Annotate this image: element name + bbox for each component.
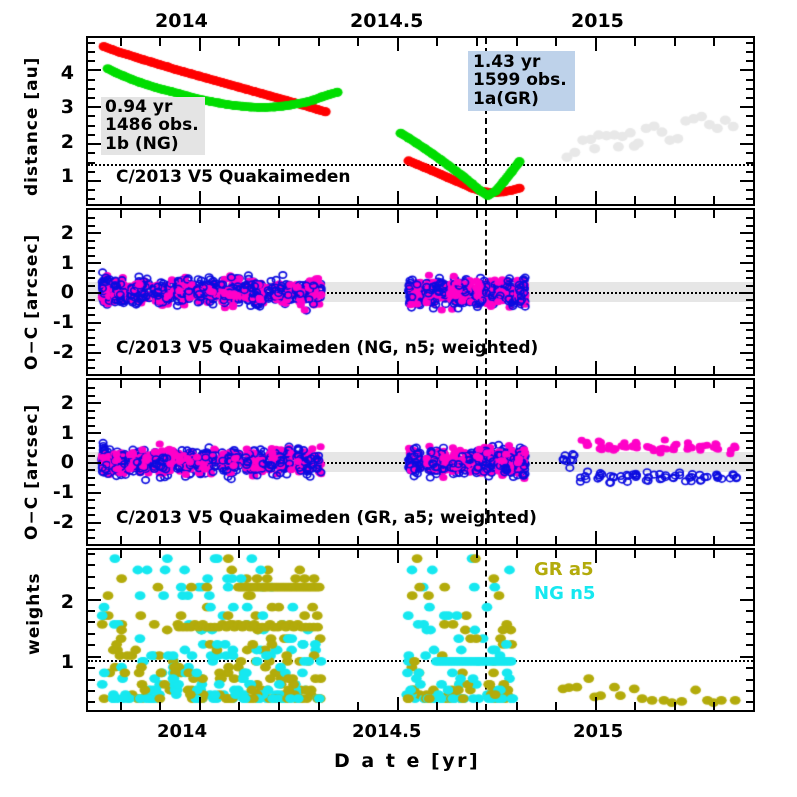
y-tick	[740, 180, 753, 182]
y-tick	[88, 106, 101, 108]
y-tick	[746, 217, 753, 219]
x-tick	[238, 210, 240, 218]
x-tick	[476, 366, 478, 374]
y-tick	[88, 115, 95, 117]
y-tick	[88, 125, 95, 127]
x-tick	[674, 550, 676, 558]
y-tick	[746, 359, 753, 361]
y-tick	[88, 492, 101, 494]
x-tick	[713, 196, 715, 204]
y-tick	[746, 198, 753, 200]
y-tick	[746, 171, 753, 173]
y-tick	[746, 587, 753, 589]
x-tick	[159, 550, 161, 558]
y-tick	[88, 198, 95, 200]
x-tick	[397, 697, 399, 710]
y-tick-label-p2-2: 2	[48, 222, 74, 244]
y-tick	[740, 432, 753, 434]
x-tick	[278, 550, 280, 558]
y-tick	[746, 484, 753, 486]
y-tick	[88, 667, 95, 669]
x-tick	[516, 366, 518, 374]
x-tick	[318, 38, 320, 46]
y-tick	[88, 232, 101, 234]
y-tick	[88, 462, 101, 464]
x-tick	[278, 536, 280, 544]
y-tick	[740, 656, 753, 658]
y-tick	[746, 189, 753, 191]
x-tick	[278, 366, 280, 374]
y-tick	[88, 344, 95, 346]
y-axis-title-oc-gr: O−C [arcsec]	[22, 404, 42, 540]
y-tick	[746, 455, 753, 457]
x-tick	[159, 702, 161, 710]
y-tick	[88, 285, 95, 287]
y-tick	[88, 337, 95, 339]
y-tick	[746, 610, 753, 612]
y-tick	[746, 690, 753, 692]
x-tick	[120, 702, 122, 710]
x-tick	[357, 380, 359, 388]
x-tick	[238, 196, 240, 204]
y-tick	[740, 106, 753, 108]
x-tick	[516, 702, 518, 710]
x-tick	[555, 366, 557, 374]
y-tick	[740, 292, 753, 294]
y-tick	[88, 152, 95, 154]
y-tick-label-p4-1: 1	[52, 651, 74, 673]
x-tick	[159, 380, 161, 388]
y-tick	[88, 402, 101, 404]
y-tick-label-p1-2: 2	[52, 131, 74, 153]
y-tick	[746, 79, 753, 81]
y-tick	[740, 322, 753, 324]
x-tick	[357, 196, 359, 204]
y-tick	[88, 679, 95, 681]
x-tick	[476, 38, 478, 46]
legend-gr-a5: GR a5	[534, 559, 594, 580]
y-tick-label-p1-1: 1	[52, 165, 74, 187]
y-tick	[740, 522, 753, 524]
x-tick	[159, 38, 161, 46]
y-tick	[88, 171, 95, 173]
x-tick	[278, 38, 280, 46]
y-tick-label-p2-m1: -1	[42, 311, 74, 333]
x-tick	[674, 38, 676, 46]
x-tick-label-bottom-2015: 2015	[573, 721, 623, 742]
y-tick	[88, 42, 95, 44]
x-tick	[674, 366, 676, 374]
y-tick	[740, 69, 753, 71]
y-tick	[88, 262, 101, 264]
y-tick	[740, 232, 753, 234]
y-tick	[746, 367, 753, 369]
y-tick	[746, 387, 753, 389]
x-tick	[595, 191, 597, 204]
x-tick	[397, 210, 399, 223]
x-tick	[634, 366, 636, 374]
y-tick	[746, 553, 753, 555]
y-tick	[88, 529, 95, 531]
x-axis-title: D a t e [yr]	[334, 750, 480, 772]
x-tick	[516, 210, 518, 218]
caption-distance: C/2013 V5 Quakaimeden	[116, 167, 351, 187]
y-tick	[746, 621, 753, 623]
x-tick	[397, 380, 399, 393]
y-tick-label-p2-0: 0	[48, 281, 74, 303]
x-tick	[713, 38, 715, 46]
x-tick	[555, 702, 557, 710]
y-tick	[88, 432, 101, 434]
x-tick	[555, 196, 557, 204]
x-tick	[634, 210, 636, 218]
y-tick	[88, 455, 95, 457]
y-tick	[88, 440, 95, 442]
x-tick	[238, 380, 240, 388]
y-tick	[746, 270, 753, 272]
y-tick	[746, 285, 753, 287]
y-tick	[746, 97, 753, 99]
x-tick	[318, 536, 320, 544]
y-tick	[746, 507, 753, 509]
y-tick	[746, 88, 753, 90]
x-tick	[674, 702, 676, 710]
x-tick-label-bottom-2014: 2014	[157, 721, 207, 742]
panel-distance: 0.94 yr 1486 obs. 1b (NG) 1.43 yr 1599 o…	[86, 36, 755, 206]
y-tick	[746, 410, 753, 412]
y-tick	[746, 162, 753, 164]
y-tick	[746, 529, 753, 531]
x-tick	[318, 380, 320, 388]
x-tick	[713, 702, 715, 710]
y-tick	[88, 217, 95, 219]
y-tick	[88, 322, 101, 324]
x-tick	[595, 210, 597, 223]
caption-oc-ng: C/2013 V5 Quakaimeden (NG, n5; weighted)	[116, 338, 538, 358]
x-tick	[120, 380, 122, 388]
x-tick	[120, 536, 122, 544]
x-tick	[238, 550, 240, 558]
x-tick	[357, 550, 359, 558]
x-tick	[516, 38, 518, 46]
y-tick	[88, 499, 95, 501]
y-tick	[740, 492, 753, 494]
x-tick	[634, 536, 636, 544]
y-tick-label-p3-m2: -2	[42, 511, 74, 533]
x-tick	[595, 697, 597, 710]
x-tick	[397, 361, 399, 374]
x-tick	[357, 702, 359, 710]
x-tick	[357, 536, 359, 544]
y-axis-title-oc-ng: O−C [arcsec]	[22, 234, 42, 370]
y-tick	[746, 277, 753, 279]
y-tick	[746, 395, 753, 397]
y-tick	[88, 307, 95, 309]
y-tick-label-p2-m2: -2	[42, 341, 74, 363]
y-tick	[746, 644, 753, 646]
y-tick-label-p4-2: 2	[52, 591, 74, 613]
x-tick	[476, 702, 478, 710]
y-tick-label-p3-2: 2	[48, 392, 74, 414]
y-tick	[88, 690, 95, 692]
y-tick	[88, 599, 101, 601]
y-tick	[740, 599, 753, 601]
y-tick	[88, 507, 95, 509]
x-tick	[120, 550, 122, 558]
annotation-ng-solution: 0.94 yr 1486 obs. 1b (NG)	[101, 97, 205, 155]
y-tick	[88, 270, 95, 272]
x-tick	[199, 531, 201, 544]
y-tick	[746, 225, 753, 227]
y-tick	[88, 469, 95, 471]
y-tick	[88, 162, 95, 164]
x-tick-label-top-2014-5: 2014.5	[350, 10, 423, 32]
y-tick	[88, 143, 101, 145]
y-tick	[88, 522, 101, 524]
y-tick	[88, 484, 95, 486]
x-tick	[159, 536, 161, 544]
x-tick	[674, 380, 676, 388]
y-tick	[88, 610, 95, 612]
x-tick	[555, 550, 557, 558]
y-tick	[88, 180, 101, 182]
y-tick-label-p1-3: 3	[52, 96, 74, 118]
x-tick	[397, 531, 399, 544]
x-tick	[318, 550, 320, 558]
x-tick	[555, 210, 557, 218]
y-tick	[88, 240, 95, 242]
x-tick	[120, 210, 122, 218]
y-tick	[88, 387, 95, 389]
x-tick	[555, 38, 557, 46]
x-tick	[436, 702, 438, 710]
y-tick	[746, 447, 753, 449]
y-tick	[88, 247, 95, 249]
x-tick	[199, 38, 201, 51]
x-tick	[357, 210, 359, 218]
y-tick-label-p3-m1: -1	[42, 481, 74, 503]
x-tick	[318, 702, 320, 710]
x-tick	[595, 380, 597, 393]
y-tick-label-p2-1: 1	[48, 252, 74, 274]
x-tick-label-top-2014: 2014	[155, 10, 208, 32]
y-tick-label-p3-1: 1	[48, 422, 74, 444]
x-tick	[595, 38, 597, 51]
x-tick	[199, 361, 201, 374]
x-tick	[476, 196, 478, 204]
y-tick	[88, 79, 95, 81]
x-tick-label-bottom-2014-5: 2014.5	[352, 721, 421, 742]
y-tick	[88, 359, 95, 361]
y-tick	[746, 576, 753, 578]
x-tick	[674, 210, 676, 218]
panel-oc-ng: C/2013 V5 Quakaimeden (NG, n5; weighted)	[86, 208, 755, 376]
y-tick	[746, 60, 753, 62]
x-tick	[436, 536, 438, 544]
x-tick	[199, 697, 201, 710]
legend-ng-n5: NG n5	[534, 583, 595, 604]
y-tick	[88, 292, 101, 294]
y-tick	[746, 314, 753, 316]
y-tick	[746, 425, 753, 427]
x-tick	[634, 196, 636, 204]
y-tick	[88, 564, 95, 566]
x-tick	[278, 380, 280, 388]
y-tick	[88, 255, 95, 257]
y-tick	[88, 51, 95, 53]
y-tick	[88, 189, 95, 191]
x-tick	[238, 38, 240, 46]
x-tick	[318, 366, 320, 374]
y-tick	[746, 51, 753, 53]
x-tick	[595, 550, 597, 563]
x-tick	[436, 210, 438, 218]
y-tick	[88, 425, 95, 427]
x-tick	[199, 380, 201, 393]
y-tick	[88, 587, 95, 589]
x-tick	[516, 196, 518, 204]
x-tick	[357, 366, 359, 374]
x-tick	[397, 191, 399, 204]
x-tick	[159, 196, 161, 204]
y-tick	[746, 440, 753, 442]
x-tick	[436, 38, 438, 46]
y-tick	[88, 367, 95, 369]
x-tick	[278, 702, 280, 710]
panel-oc-gr: C/2013 V5 Quakaimeden (GR, a5; weighted)	[86, 378, 755, 546]
y-tick	[88, 477, 95, 479]
y-tick-label-p1-4: 4	[52, 62, 74, 84]
y-tick	[88, 88, 95, 90]
x-tick	[634, 38, 636, 46]
y-tick	[88, 225, 95, 227]
x-tick	[436, 366, 438, 374]
x-tick	[278, 196, 280, 204]
y-tick	[746, 255, 753, 257]
y-tick	[88, 299, 95, 301]
caption-oc-gr: C/2013 V5 Quakaimeden (GR, a5; weighted)	[116, 508, 537, 528]
y-tick	[88, 576, 95, 578]
y-tick	[88, 633, 95, 635]
x-tick	[436, 196, 438, 204]
x-tick	[238, 536, 240, 544]
x-tick	[476, 380, 478, 388]
x-tick	[397, 38, 399, 51]
x-tick	[476, 536, 478, 544]
y-tick-label-p3-0: 0	[48, 451, 74, 473]
x-tick	[634, 550, 636, 558]
y-tick	[88, 417, 95, 419]
y-tick	[746, 417, 753, 419]
y-tick	[746, 679, 753, 681]
y-axis-title-weights: weights	[24, 572, 44, 655]
x-tick	[120, 196, 122, 204]
x-tick	[120, 38, 122, 46]
x-tick	[357, 38, 359, 46]
x-tick	[634, 380, 636, 388]
y-tick	[88, 97, 95, 99]
y-tick	[746, 469, 753, 471]
y-tick	[746, 247, 753, 249]
y-tick	[746, 125, 753, 127]
x-tick	[555, 380, 557, 388]
y-tick	[740, 262, 753, 264]
y-tick	[88, 701, 95, 703]
y-tick	[746, 42, 753, 44]
y-tick	[746, 667, 753, 669]
y-tick	[740, 402, 753, 404]
x-tick	[595, 361, 597, 374]
y-tick	[88, 621, 95, 623]
x-tick	[159, 366, 161, 374]
x-tick-label-top-2015: 2015	[571, 10, 624, 32]
y-tick	[88, 514, 95, 516]
x-tick	[397, 550, 399, 563]
x-tick	[278, 210, 280, 218]
y-tick	[88, 656, 101, 658]
x-tick	[120, 366, 122, 374]
y-tick	[88, 277, 95, 279]
x-tick	[476, 210, 478, 218]
y-tick	[746, 499, 753, 501]
x-tick	[674, 536, 676, 544]
y-tick	[746, 701, 753, 703]
y-tick	[746, 633, 753, 635]
figure-root: 2014 2014.5 2015 0.94 yr 1486 obs. 1b (N…	[0, 0, 797, 797]
y-tick	[746, 514, 753, 516]
y-tick	[746, 537, 753, 539]
y-tick	[88, 352, 101, 354]
x-tick	[713, 366, 715, 374]
x-tick	[713, 550, 715, 558]
y-tick	[88, 410, 95, 412]
annotation-gr-solution: 1.43 yr 1599 obs. 1a(GR)	[468, 51, 575, 111]
x-tick	[436, 380, 438, 388]
x-tick	[713, 536, 715, 544]
x-tick	[159, 210, 161, 218]
y-tick	[740, 143, 753, 145]
y-tick	[88, 134, 95, 136]
y-tick	[88, 537, 95, 539]
x-tick	[238, 702, 240, 710]
y-tick	[88, 314, 95, 316]
x-tick	[238, 366, 240, 374]
x-tick	[199, 550, 201, 563]
x-tick	[476, 550, 478, 558]
x-tick	[516, 380, 518, 388]
y-tick	[746, 337, 753, 339]
y-tick	[88, 447, 95, 449]
x-tick	[595, 531, 597, 544]
y-tick	[88, 69, 101, 71]
x-tick	[634, 702, 636, 710]
y-tick	[746, 240, 753, 242]
x-tick	[318, 196, 320, 204]
y-tick	[88, 644, 95, 646]
y-tick	[88, 553, 95, 555]
x-tick	[436, 550, 438, 558]
x-tick	[555, 536, 557, 544]
x-tick	[674, 196, 676, 204]
y-tick	[746, 115, 753, 117]
y-tick	[740, 462, 753, 464]
y-tick	[746, 152, 753, 154]
y-tick	[88, 395, 95, 397]
x-tick	[516, 550, 518, 558]
y-axis-title-distance: distance [au]	[22, 57, 42, 196]
y-tick	[746, 299, 753, 301]
x-tick	[199, 210, 201, 223]
